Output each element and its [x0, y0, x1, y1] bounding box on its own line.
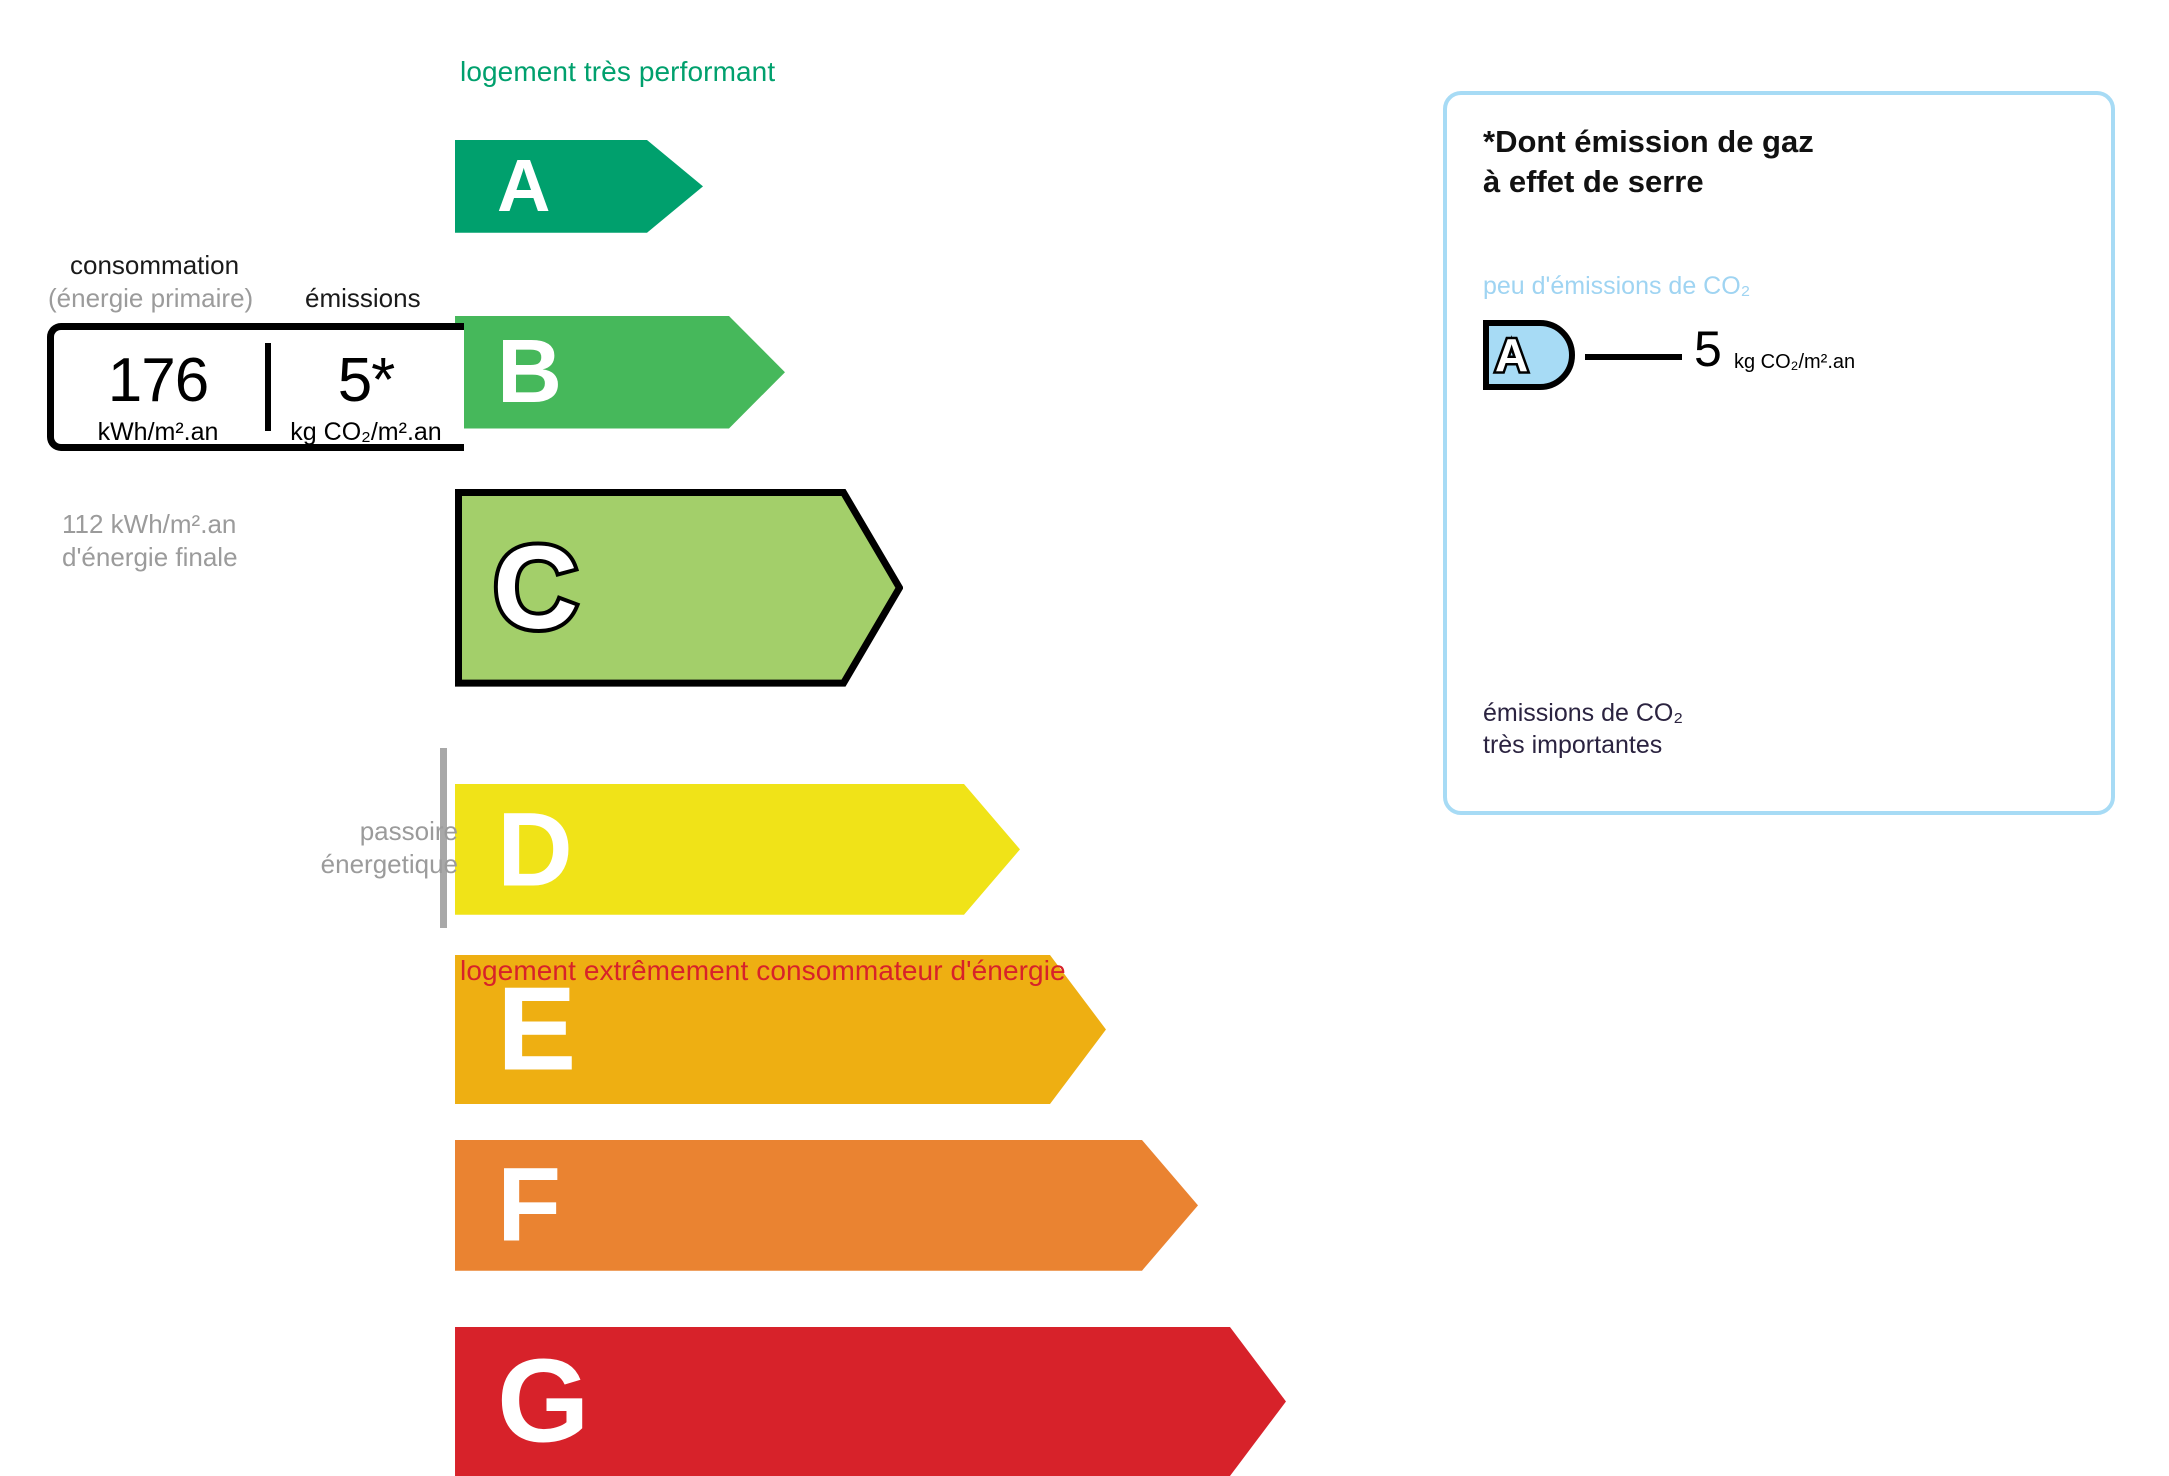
- ges-class-letter: C: [1503, 455, 1529, 491]
- energy-class-arrow: [455, 316, 785, 428]
- scale-bottom-caption: logement extrêmement consommateur d'éner…: [460, 955, 1066, 987]
- final-energy-label: d'énergie finale: [62, 541, 238, 574]
- ges-class-letter: B: [1503, 405, 1529, 441]
- ges-bottom-caption: émissions de CO₂ très importantes: [1483, 697, 1683, 761]
- ges-selected-unit: kg CO₂/m².an: [1734, 352, 1855, 372]
- passoire-label: passoire énergetique: [268, 815, 458, 880]
- energy-class-row: F: [455, 1140, 1198, 1271]
- ges-selected-class-letter: A: [1495, 332, 1528, 378]
- energy-class-row: B: [455, 316, 785, 428]
- final-energy-note: 112 kWh/m².an d'énergie finale: [62, 508, 238, 574]
- ges-title-line-1: *Dont émission de gaz: [1483, 122, 1814, 162]
- ges-class-letter: D: [1503, 505, 1529, 541]
- consumption-value-cell: 176 kWh/m².an: [58, 350, 258, 445]
- ges-class-row: B: [1483, 400, 1651, 446]
- ges-class-letter: G: [1503, 655, 1531, 691]
- ges-title-line-2: à effet de serre: [1483, 162, 1814, 202]
- energy-class-row: C: [455, 489, 903, 687]
- ges-top-caption: peu d'émissions de CO₂: [1483, 272, 1750, 301]
- consumption-value: 176: [58, 350, 258, 412]
- scale-top-caption: logement très performant: [460, 56, 775, 88]
- energy-scale-panel: logement très performant ABCDEFG consomm…: [0, 0, 1400, 1079]
- ges-class-row: E: [1483, 550, 1765, 596]
- energy-class-row: G: [455, 1327, 1286, 1476]
- emissions-value: 5*: [276, 350, 456, 412]
- ges-selected-value: 5: [1694, 324, 1722, 374]
- value-box-divider: [265, 343, 271, 431]
- energy-class-arrow: [455, 1327, 1286, 1476]
- ges-bottom-line-1: émissions de CO₂: [1483, 697, 1683, 729]
- consumption-header-label: consommation: [70, 250, 239, 281]
- energy-class-arrow: [455, 140, 703, 233]
- emissions-unit: kg CO₂/m².an: [276, 420, 456, 445]
- final-energy-value: 112 kWh/m².an: [62, 508, 238, 541]
- dpe-diagram: logement très performant ABCDEFG consomm…: [0, 0, 2169, 1079]
- ges-class-letter: F: [1503, 605, 1525, 641]
- passoire-line-1: passoire: [268, 815, 458, 848]
- consumption-unit: kWh/m².an: [58, 420, 258, 445]
- ges-class-row: F: [1483, 600, 1801, 646]
- consumption-header-sublabel: (énergie primaire): [48, 283, 253, 314]
- ges-class-letter: E: [1503, 555, 1527, 591]
- ges-selected-class-badge: A: [1483, 320, 1575, 390]
- passoire-line-2: énergetique: [268, 848, 458, 881]
- ges-bottom-line-2: très importantes: [1483, 729, 1683, 761]
- energy-class-row: A: [455, 140, 703, 233]
- energy-class-arrow: [455, 489, 903, 687]
- ges-class-row: G: [1483, 650, 1837, 696]
- ges-leader-line: [1585, 354, 1682, 360]
- energy-class-arrow: [455, 1140, 1198, 1271]
- ges-class-row: C: [1483, 450, 1693, 496]
- emissions-header-label: émissions: [305, 283, 421, 314]
- energy-class-row: D: [455, 784, 1020, 915]
- emissions-value-cell: 5* kg CO₂/m².an: [276, 350, 456, 445]
- energy-class-arrow: [455, 784, 1020, 915]
- ges-panel-title: *Dont émission de gaz à effet de serre: [1483, 122, 1814, 201]
- ges-class-row: D: [1483, 500, 1729, 546]
